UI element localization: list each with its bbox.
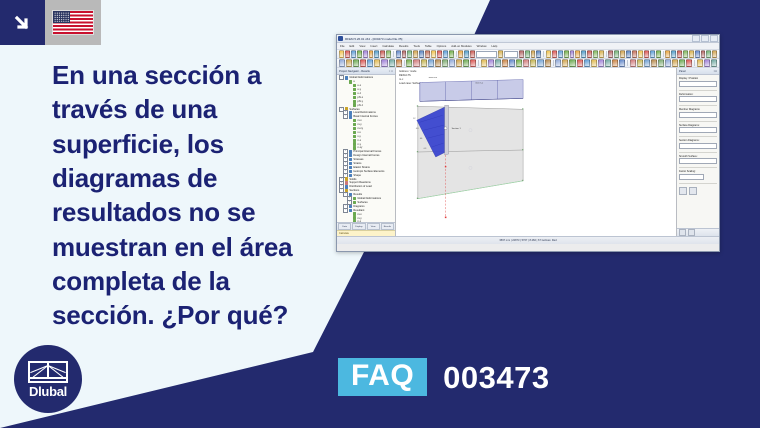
toolbar-button[interactable] xyxy=(402,50,407,58)
tree-node-icon xyxy=(349,170,352,173)
toolbar-button[interactable] xyxy=(598,59,604,67)
tree-node-icon xyxy=(349,150,352,153)
tree-item-label: u-z xyxy=(357,92,361,95)
tree-item-label: Design Internal Forces xyxy=(353,154,379,157)
toolbar-button[interactable] xyxy=(562,59,568,67)
toolbar-button[interactable] xyxy=(367,59,373,67)
toolbar-button[interactable] xyxy=(537,59,543,67)
menu-item-view[interactable]: View xyxy=(359,44,365,48)
toolbar-button[interactable] xyxy=(569,59,575,67)
toolbar-button[interactable] xyxy=(470,50,475,58)
toolbar-button[interactable] xyxy=(530,59,536,67)
toolbar-button[interactable] xyxy=(536,50,541,58)
panel-action-buttons[interactable] xyxy=(679,187,717,195)
panel-close-icon[interactable]: ⌶✕ xyxy=(713,70,717,73)
tree-node-icon xyxy=(353,142,356,145)
tree-node-icon xyxy=(353,96,356,99)
menu-item-options[interactable]: Options xyxy=(437,44,447,48)
toolbar-button[interactable] xyxy=(593,50,598,58)
tree-item-label: Stresses xyxy=(353,158,363,161)
toolbar-button[interactable] xyxy=(712,50,717,58)
window-title-bar: RFEM 5.26.01 x64 - [000473 model file.rf… xyxy=(337,35,719,43)
tree-item-label: Global Deformations xyxy=(357,197,381,200)
toolbar-button[interactable] xyxy=(614,50,619,58)
tree-node-icon xyxy=(349,80,352,83)
menu-item-calculate[interactable]: Calculate xyxy=(382,44,394,48)
svg-text:max m-x: max m-x xyxy=(429,77,438,79)
tree-node-icon xyxy=(345,185,348,188)
toolbar-button[interactable] xyxy=(363,50,368,58)
menu-item-file[interactable]: File xyxy=(340,44,345,48)
toolbar-button[interactable] xyxy=(345,50,350,58)
panel-group-field[interactable] xyxy=(679,174,704,180)
panel-divider xyxy=(679,152,717,153)
menu-item-edit[interactable]: Edit xyxy=(350,44,355,48)
navigator-pin-icon[interactable]: ⌶ ✕ xyxy=(389,70,393,73)
tree-item-label: Diagrams xyxy=(353,205,364,208)
toolbar-button[interactable] xyxy=(488,59,494,67)
toolbar-button[interactable] xyxy=(581,50,586,58)
svg-text:Section 1: Section 1 xyxy=(452,127,462,130)
toolbar-button[interactable] xyxy=(689,50,694,58)
tree-item-label: u-x xyxy=(357,84,361,87)
toolbar-button[interactable] xyxy=(406,59,412,67)
tree-item-label: phi-x xyxy=(357,96,363,99)
window-controls[interactable] xyxy=(692,35,718,42)
toolbar-button[interactable] xyxy=(442,59,448,67)
toolbar-button[interactable] xyxy=(697,59,703,67)
tree-item-label: v-y xyxy=(357,135,360,138)
tree-node-icon xyxy=(349,174,352,177)
toolbar-button[interactable] xyxy=(407,50,412,58)
navigator-tabs[interactable]: DataDisplayViewResults xyxy=(337,222,395,230)
tree-expander-icon[interactable]: - xyxy=(339,75,344,80)
tree-node-icon xyxy=(353,127,356,130)
status-text: 3597 mm | 22873 | 5767 | 8.282 | 67 Isol… xyxy=(499,239,556,242)
minimize-button[interactable] xyxy=(692,35,700,42)
panel-title: Panel xyxy=(679,70,686,73)
toolbar-load-case-combo[interactable] xyxy=(476,51,497,58)
navigator-status-note: Calculate xyxy=(337,230,395,236)
menu-item-tools[interactable]: Tools xyxy=(413,44,420,48)
maximize-button[interactable] xyxy=(701,35,709,42)
toolbar-button[interactable] xyxy=(545,59,551,67)
tree-item-label: Local Deformations xyxy=(353,111,375,114)
toolbar-button[interactable] xyxy=(380,50,385,58)
tree-item-label: Principal Internal Forces xyxy=(353,150,381,153)
tree-item-label: Strains xyxy=(353,162,361,165)
tree-item-label: m-x xyxy=(357,213,361,216)
svg-text:0.6: 0.6 xyxy=(420,138,422,140)
results-panel[interactable]: Panel ⌶✕ Display / PositionDeformation:M… xyxy=(676,68,719,236)
tree-node-icon xyxy=(353,201,356,204)
dlubal-logo: Dlubal xyxy=(14,345,82,413)
navigator-header: Project Navigator - Results ⌶ ✕ xyxy=(337,68,395,75)
toolbar-button[interactable] xyxy=(449,59,455,67)
tree-node-icon xyxy=(345,76,348,79)
panel-footer-buttons[interactable] xyxy=(677,228,719,236)
toolbar-button[interactable] xyxy=(339,50,344,58)
tree-node-icon xyxy=(349,162,352,165)
toolbar-button[interactable] xyxy=(509,59,515,67)
panel-group: Section Diagrams: xyxy=(679,139,717,149)
panel-group-field[interactable] xyxy=(679,127,717,133)
toolbar-button[interactable] xyxy=(555,59,561,67)
toolbar-button[interactable] xyxy=(374,59,380,67)
toolbar-button[interactable] xyxy=(353,59,359,67)
tree-node-icon xyxy=(349,158,352,161)
toolbar-button[interactable] xyxy=(413,59,419,67)
toolbar-button[interactable] xyxy=(665,59,671,67)
toolbar-button[interactable] xyxy=(658,59,664,67)
toolbar-button[interactable] xyxy=(638,50,643,58)
tree-node-icon xyxy=(353,88,356,91)
panel-apply-icon[interactable] xyxy=(679,187,687,195)
panel-reset-icon[interactable] xyxy=(689,187,697,195)
tree-item-label: Shape xyxy=(353,174,361,177)
toolbar-button[interactable] xyxy=(671,50,676,58)
tree-node-icon xyxy=(349,205,352,208)
navigator-tab-data[interactable]: Data xyxy=(338,223,351,230)
panel-divider xyxy=(679,167,717,168)
toolbar-button[interactable] xyxy=(374,50,379,58)
tree-item-label: Resultant xyxy=(353,209,364,212)
navigator-tree[interactable]: -Global Deformationsuu-xu-yu-zphi-xphi-y… xyxy=(337,75,395,222)
toolbar-button[interactable] xyxy=(386,50,391,58)
toolbar-button[interactable] xyxy=(619,59,625,67)
tree-node-icon xyxy=(353,212,356,215)
toolbar-button[interactable] xyxy=(463,59,469,67)
top-left-badges xyxy=(0,0,101,45)
toolbar-button[interactable] xyxy=(360,59,366,67)
toolbar-button[interactable] xyxy=(612,59,618,67)
toolbar-button[interactable] xyxy=(683,50,688,58)
truss-frame-icon xyxy=(28,361,68,383)
tree-node-icon xyxy=(353,135,356,138)
faq-badge: FAQ xyxy=(338,358,427,396)
panel-group: Deformation: xyxy=(679,93,717,103)
slide-canvas: En una sección a través de una superfici… xyxy=(0,0,760,428)
toolbar-button[interactable] xyxy=(695,50,700,58)
toolbar-button[interactable] xyxy=(558,50,563,58)
panel-divider xyxy=(679,90,717,91)
panel-group-field[interactable] xyxy=(679,96,717,102)
tree-item-label: m-xy xyxy=(357,127,363,130)
toolbar-button[interactable] xyxy=(552,50,557,58)
close-button[interactable] xyxy=(710,35,718,42)
toolbar-button[interactable] xyxy=(525,50,530,58)
tree-item-label: Results xyxy=(353,193,362,196)
toolbar-button[interactable] xyxy=(577,59,583,67)
panel-group-field[interactable] xyxy=(679,143,717,149)
toolbar-button[interactable] xyxy=(523,59,529,67)
toolbar-button[interactable] xyxy=(632,50,637,58)
panel-divider xyxy=(679,136,717,137)
toolbar-button[interactable] xyxy=(456,59,462,67)
toolbar-button[interactable] xyxy=(651,59,657,67)
model-viewport[interactable]: Isolines / mode RESULTS m-x Load case: S… xyxy=(396,68,676,236)
toolbar-button[interactable] xyxy=(644,50,649,58)
menu-item-results[interactable]: Results xyxy=(399,44,408,48)
tree-expander-icon[interactable]: - xyxy=(343,114,348,119)
toolbar-button[interactable] xyxy=(464,50,469,58)
toolbar-button[interactable] xyxy=(351,50,356,58)
panel-group: Display / Position xyxy=(679,77,717,87)
navigator-tab-display[interactable]: Display xyxy=(352,223,365,230)
toolbar-separator xyxy=(694,60,695,66)
faq-bar: FAQ 003473 xyxy=(338,358,550,396)
menu-item-window[interactable]: Window xyxy=(477,44,487,48)
tree-node-icon xyxy=(353,139,356,142)
toolbar-button[interactable] xyxy=(369,50,374,58)
panel-group: Surface Diagrams: xyxy=(679,124,717,134)
toolbar-button[interactable] xyxy=(564,50,569,58)
tree-node-icon xyxy=(353,100,356,103)
tree-item-label: Basic Internal Forces xyxy=(353,115,377,118)
panel-divider xyxy=(679,105,717,106)
tree-item-label: Isotropic Surface Elements xyxy=(353,170,384,173)
toolbar-button[interactable] xyxy=(665,50,670,58)
toolbar-button[interactable] xyxy=(425,50,430,58)
toolbar-button[interactable] xyxy=(637,59,643,67)
toolbar-button[interactable] xyxy=(431,50,436,58)
panel-divider xyxy=(679,121,717,122)
toolbar-separator xyxy=(404,60,405,66)
section-diagram-band: max m-x min m-x xyxy=(420,77,523,101)
toolbar-button[interactable] xyxy=(389,59,395,67)
toolbar-button[interactable] xyxy=(498,50,503,58)
toolbar-button[interactable] xyxy=(575,50,580,58)
toolbar-button[interactable] xyxy=(608,50,613,58)
tree-item-label: m-y xyxy=(357,123,361,126)
toolbar-separator xyxy=(553,60,554,66)
status-bar: 3597 mm | 22873 | 5767 | 8.282 | 67 Isol… xyxy=(337,236,719,244)
toolbar-button[interactable] xyxy=(711,59,717,67)
navigator-tab-view[interactable]: View xyxy=(367,223,380,230)
tree-item-label: phi-z xyxy=(357,104,363,107)
toolbar-button[interactable] xyxy=(357,50,362,58)
toolbar-button[interactable] xyxy=(519,50,524,58)
toolbar-button[interactable] xyxy=(502,59,508,67)
panel-group: Smooth Surface: xyxy=(679,155,717,165)
toolbar-button[interactable] xyxy=(599,50,604,58)
toolbar-result-combo[interactable] xyxy=(504,51,518,58)
toolbar-primary[interactable] xyxy=(337,50,719,59)
us-flag-icon xyxy=(45,0,101,45)
arrow-down-right-icon xyxy=(0,0,45,45)
panel-filter-icon[interactable] xyxy=(688,229,695,236)
svg-text:0.3: 0.3 xyxy=(424,148,426,150)
toolbar-button[interactable] xyxy=(396,50,401,58)
toolbar-button[interactable] xyxy=(650,50,655,58)
rfem-application-window: RFEM 5.26.01 x64 - [000473 model file.rf… xyxy=(336,34,720,252)
panel-group-field[interactable] xyxy=(679,81,717,87)
toolbar-button[interactable] xyxy=(435,59,441,67)
toolbar-button[interactable] xyxy=(346,59,352,67)
navigator-tab-results[interactable]: Results xyxy=(381,223,394,230)
tree-item-label: Surfaces xyxy=(357,201,367,204)
toolbar-button[interactable] xyxy=(495,59,501,67)
toolbar-button[interactable] xyxy=(428,59,434,67)
toolbar-separator xyxy=(478,60,479,66)
menu-item-insert[interactable]: Insert xyxy=(370,44,377,48)
panel-settings-icon[interactable] xyxy=(679,229,686,236)
toolbar-button[interactable] xyxy=(704,59,710,67)
toolbar-button[interactable] xyxy=(516,59,522,67)
menu-item-table[interactable]: Table xyxy=(425,44,432,48)
menu-item-add-on-modules[interactable]: Add-on Modules xyxy=(451,44,471,48)
project-navigator[interactable]: Project Navigator - Results ⌶ ✕ -Global … xyxy=(337,68,396,236)
panel-group: Member Diagrams: xyxy=(679,108,717,118)
toolbar-button[interactable] xyxy=(437,50,442,58)
tree-item-label: m-y xyxy=(357,217,361,220)
toolbar-button[interactable] xyxy=(620,50,625,58)
tree-node-icon xyxy=(349,166,352,169)
toolbar-button[interactable] xyxy=(381,59,387,67)
logo-wordmark: Dlubal xyxy=(29,385,67,398)
menu-item-help[interactable]: Help xyxy=(492,44,498,48)
toolbar-button[interactable] xyxy=(443,50,448,58)
navigator-title: Project Navigator - Results xyxy=(339,70,370,73)
tree-item-label: n-x xyxy=(357,139,361,142)
panel-header: Panel ⌶✕ xyxy=(677,68,719,75)
toolbar-button[interactable] xyxy=(421,59,427,67)
tree-node-icon xyxy=(349,111,352,114)
tree-node-icon xyxy=(349,115,352,118)
structural-model-graphic: max m-x min m-x xyxy=(396,68,676,236)
tree-item-label: Elastic Strains xyxy=(353,166,369,169)
tree-node-icon xyxy=(345,181,348,184)
toolbar-button[interactable] xyxy=(677,50,682,58)
tree-node-icon xyxy=(349,209,352,212)
toolbar-button[interactable] xyxy=(531,50,536,58)
window-title: RFEM 5.26.01 x64 - [000473 model file.rf… xyxy=(345,37,692,41)
svg-text:0.9: 0.9 xyxy=(416,128,418,130)
tree-node-icon xyxy=(345,177,348,180)
toolbar-button[interactable] xyxy=(672,59,678,67)
tree-item-label: v-x xyxy=(357,131,360,134)
faq-number: 003473 xyxy=(443,362,549,393)
page-title: En una sección a través de una superfici… xyxy=(52,58,320,333)
toolbar-button[interactable] xyxy=(458,50,463,58)
panel-group-field[interactable] xyxy=(679,158,717,164)
toolbar-button[interactable] xyxy=(419,50,424,58)
tree-item-label: Distribution of Load xyxy=(349,185,371,188)
tree-node-icon xyxy=(353,123,356,126)
panel-group-field[interactable] xyxy=(679,112,717,118)
toolbar-button[interactable] xyxy=(413,50,418,58)
toolbar-button[interactable] xyxy=(605,59,611,67)
toolbar-button[interactable] xyxy=(630,59,636,67)
toolbar-button[interactable] xyxy=(591,59,597,67)
tree-node-icon xyxy=(353,92,356,95)
toolbar-button[interactable] xyxy=(449,50,454,58)
toolbar-separator xyxy=(627,60,628,66)
workspace: Project Navigator - Results ⌶ ✕ -Global … xyxy=(337,68,719,236)
toolbar-button[interactable] xyxy=(396,59,402,67)
panel-body[interactable]: Display / PositionDeformation:Member Dia… xyxy=(677,75,719,228)
tree-node-icon xyxy=(353,103,356,106)
toolbar-button[interactable] xyxy=(679,59,685,67)
tree-node-icon xyxy=(353,197,356,200)
svg-text:1.2: 1.2 xyxy=(413,118,415,120)
tree-node-icon xyxy=(353,216,356,219)
toolbar-button[interactable] xyxy=(626,50,631,58)
menu-bar[interactable]: FileEditViewInsertCalculateResultsToolsT… xyxy=(337,43,719,50)
toolbar-button[interactable] xyxy=(686,59,692,67)
toolbar-button[interactable] xyxy=(546,50,551,58)
tree-item-label: m-x xyxy=(357,119,361,122)
tree-item-label: phi-y xyxy=(357,100,363,103)
toolbar-button[interactable] xyxy=(587,50,592,58)
svg-text:min m-x: min m-x xyxy=(475,82,484,84)
toolbar-button[interactable] xyxy=(339,59,345,67)
panel-divider xyxy=(679,183,717,184)
toolbar-secondary[interactable] xyxy=(337,59,719,68)
tree-item-label: n-y xyxy=(357,143,361,146)
toolbar-button[interactable] xyxy=(481,59,487,67)
toolbar-button[interactable] xyxy=(584,59,590,67)
toolbar-button[interactable] xyxy=(701,50,706,58)
app-icon xyxy=(338,36,343,41)
toolbar-button[interactable] xyxy=(706,50,711,58)
toolbar-button[interactable] xyxy=(656,50,661,58)
toolbar-button[interactable] xyxy=(470,59,476,67)
tree-item-label: u xyxy=(353,80,354,83)
tree-node-icon xyxy=(353,131,356,134)
tree-item-label: Sections xyxy=(349,189,359,192)
tree-expander-icon[interactable]: - xyxy=(343,208,348,213)
tree-item-label: u-y xyxy=(357,88,361,91)
panel-group: Factor Scaling: xyxy=(679,170,717,180)
tree-item-label: Global Deformations xyxy=(349,76,373,79)
toolbar-button[interactable] xyxy=(570,50,575,58)
toolbar-button[interactable] xyxy=(644,59,650,67)
